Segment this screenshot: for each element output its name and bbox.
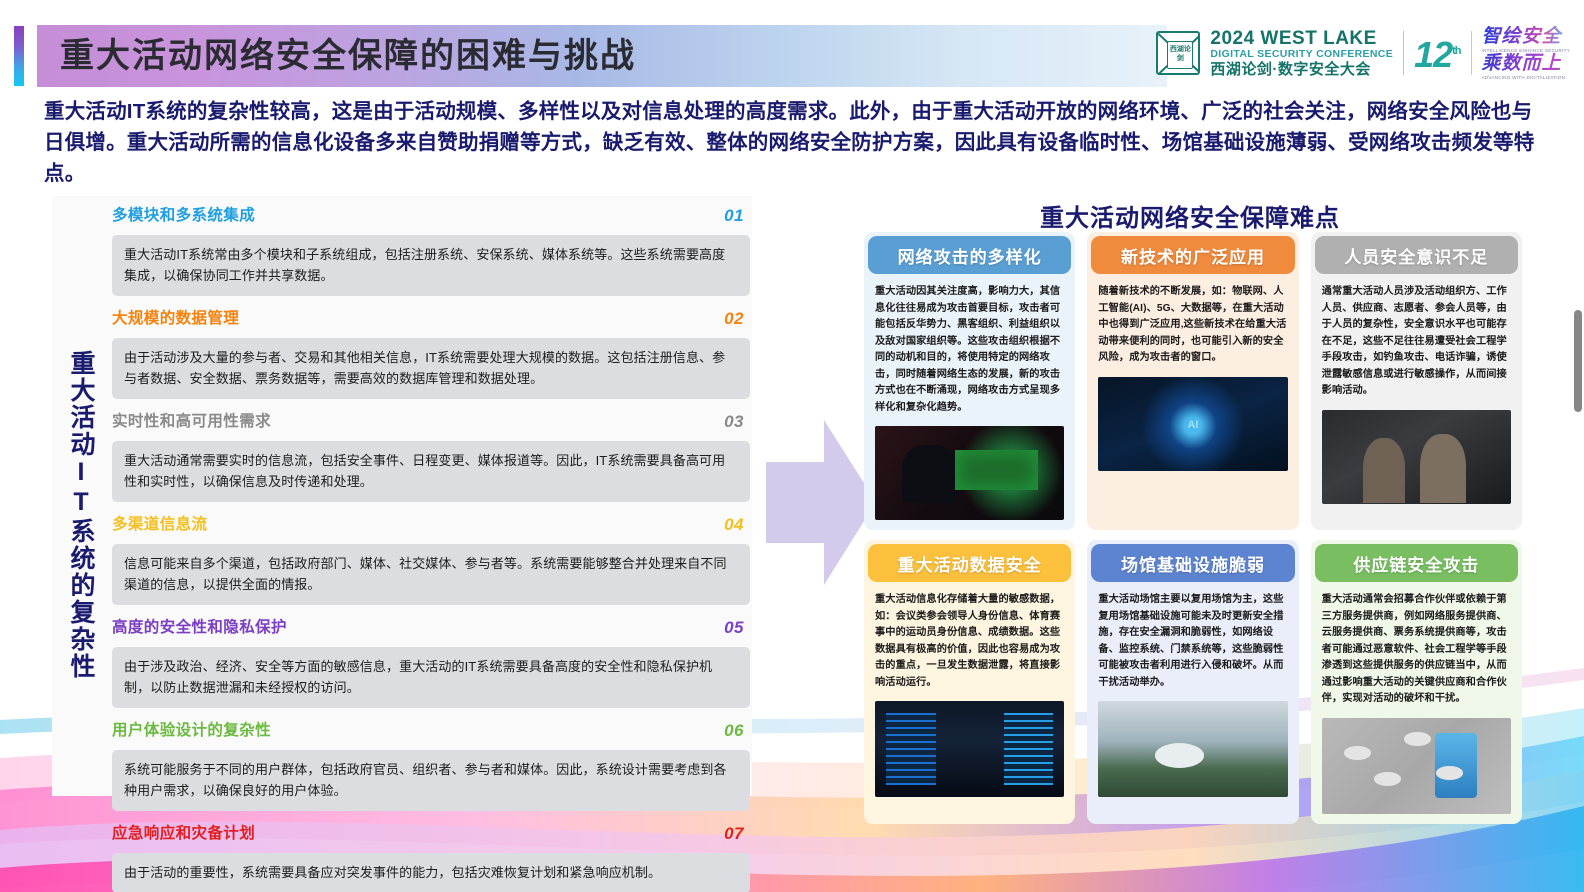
card-body-text: 通常重大活动人员涉及活动组织方、工作人员、供应商、志愿者、参会人员等，由于人员的… — [1311, 274, 1522, 406]
difficulty-card[interactable]: 场馆基础设施脆弱重大活动场馆主要以复用场馆为主，这些复用场馆基础设施可能未及时更… — [1087, 540, 1298, 824]
card-image-hacker-photo — [875, 426, 1064, 520]
slide-root: 重大活动网络安全保障的困难与挑战 西湖论剑 2024 WEST LAKE DIG… — [0, 0, 1584, 892]
card-body-text: 重大活动场馆主要以复用场馆为主，这些复用场馆基础设施可能未及时更新安全措施，存在… — [1087, 582, 1298, 697]
list-item-number: 07 — [724, 822, 744, 846]
list-item-header: 用户体验设计的复杂性06 — [112, 719, 750, 745]
card-title: 人员安全意识不足 — [1315, 236, 1518, 274]
page-scrollbar-thumb[interactable] — [1574, 310, 1582, 412]
card-image-datacenter-photo — [875, 701, 1064, 797]
edition-badge: 12th — [1414, 31, 1460, 75]
list-item-body: 信息可能来自多个渠道，包括政府部门、媒体、社交媒体、参与者等。系统需要能够整合并… — [112, 544, 750, 605]
list-item-number: 03 — [724, 410, 744, 434]
right-section-title: 重大活动网络安全保障难点 — [860, 198, 1520, 233]
difficulty-card[interactable]: 人员安全意识不足通常重大活动人员涉及活动组织方、工作人员、供应商、志愿者、参会人… — [1311, 232, 1522, 530]
conference-logo: 西湖论剑 2024 WEST LAKE DIGITAL SECURITY CON… — [1156, 22, 1570, 84]
list-item-title: 多渠道信息流 — [112, 516, 207, 533]
list-item-body: 重大活动通常需要实时的信息流，包括安全事件、日程变更、媒体报道等。因此，IT系统… — [112, 441, 750, 502]
card-image-staff-photo — [1322, 410, 1511, 504]
logo-text-block: 2024 WEST LAKE DIGITAL SECURITY CONFEREN… — [1210, 29, 1393, 78]
complexity-list: 多模块和多系统集成01重大活动IT系统常由多个模块和子系统组成，包括注册系统、安… — [112, 204, 750, 892]
list-item: 高度的安全性和隐私保护05由于涉及政治、经济、安全等方面的敏感信息，重大活动的I… — [112, 616, 750, 708]
card-body-text: 随着新技术的不断发展，如：物联网、人工智能(AI)、5G、大数据等，在重大活动中… — [1087, 274, 1298, 373]
list-item-title: 实时性和高可用性需求 — [112, 413, 271, 430]
list-item: 用户体验设计的复杂性06系统可能服务于不同的用户群体，包括政府官员、组织者、参与… — [112, 719, 750, 811]
edition-suffix: th — [1452, 45, 1460, 57]
intro-paragraph: 重大活动IT系统的复杂性较高，这是由于活动规模、多样性以及对信息处理的高度需求。… — [44, 96, 1544, 189]
list-item-title: 多模块和多系统集成 — [112, 207, 255, 224]
slogan-block: 智绘安全 INTELLIGENCE ENHANCE SECURITY 乘数而上 … — [1482, 26, 1570, 81]
edition-number: 12 — [1414, 34, 1452, 75]
vertical-section-label: 重大活动IT系统的复杂性 — [60, 325, 96, 705]
list-item-body: 系统可能服务于不同的用户群体，包括政府官员、组织者、参与者和媒体。因此，系统设计… — [112, 750, 750, 811]
page-scrollbar-track[interactable] — [1571, 0, 1584, 892]
list-item-number: 01 — [724, 204, 744, 228]
list-item-body: 由于活动涉及大量的参与者、交易和其他相关信息，IT系统需要处理大规模的数据。这包… — [112, 338, 750, 399]
slogan-line-1: 智绘安全 — [1482, 26, 1570, 48]
list-item-body: 由于涉及政治、经济、安全等方面的敏感信息，重大活动的IT系统需要具备高度的安全性… — [112, 647, 750, 708]
difficulty-card[interactable]: 重大活动数据安全重大活动信息化存储着大量的敏感数据，如：会议类参会领导人身份信息… — [864, 540, 1075, 824]
difficulty-card[interactable]: 新技术的广泛应用随着新技术的不断发展，如：物联网、人工智能(AI)、5G、大数据… — [1087, 232, 1298, 530]
list-item-number: 06 — [724, 719, 744, 743]
list-item-number: 02 — [724, 307, 744, 331]
list-item-header: 应急响应和灾备计划07 — [112, 822, 750, 848]
card-body-text: 重大活动因其关注度高，影响力大，其信息化往往易成为攻击首要目标，攻击者可能包括反… — [864, 274, 1075, 422]
card-image-ai-robot-photo — [1098, 377, 1287, 471]
card-image-supply-chain-graphic — [1322, 718, 1511, 814]
card-title: 网络攻击的多样化 — [868, 236, 1071, 274]
right-arrow-icon — [766, 420, 876, 585]
list-item-number: 04 — [724, 513, 744, 537]
list-item-header: 高度的安全性和隐私保护05 — [112, 616, 750, 642]
card-title: 场馆基础设施脆弱 — [1091, 544, 1294, 582]
card-image-venue-photo — [1098, 701, 1287, 797]
list-item: 实时性和高可用性需求03重大活动通常需要实时的信息流，包括安全事件、日程变更、媒… — [112, 410, 750, 502]
logo-line-1: 2024 WEST LAKE — [1210, 29, 1393, 48]
card-title: 新技术的广泛应用 — [1091, 236, 1294, 274]
slogan-line-2: 乘数而上 — [1482, 53, 1570, 75]
logo-line-3: 西湖论剑·数字安全大会 — [1210, 61, 1393, 78]
title-accent-bar — [14, 26, 24, 86]
difficulty-cards-grid: 网络攻击的多样化重大活动因其关注度高，影响力大，其信息化往往易成为攻击首要目标，… — [864, 232, 1522, 824]
card-title: 重大活动数据安全 — [868, 544, 1071, 582]
difficulty-card[interactable]: 网络攻击的多样化重大活动因其关注度高，影响力大，其信息化往往易成为攻击首要目标，… — [864, 232, 1075, 530]
list-item-header: 多渠道信息流04 — [112, 513, 750, 539]
westlake-seal-icon: 西湖论剑 — [1156, 31, 1200, 75]
list-item-title: 用户体验设计的复杂性 — [112, 722, 271, 739]
logo-divider — [1403, 31, 1404, 75]
card-title: 供应链安全攻击 — [1315, 544, 1518, 582]
list-item-header: 大规模的数据管理02 — [112, 307, 750, 333]
card-body-text: 重大活动通常会招募合作伙伴或依赖于第三方服务提供商，例如网络服务提供商、云服务提… — [1311, 582, 1522, 714]
list-item: 应急响应和灾备计划07由于活动的重要性，系统需要具备应对突发事件的能力，包括灾难… — [112, 822, 750, 892]
list-item-title: 大规模的数据管理 — [112, 310, 239, 327]
list-item-title: 高度的安全性和隐私保护 — [112, 619, 287, 636]
list-item-body: 重大活动IT系统常由多个模块和子系统组成，包括注册系统、安保系统、媒体系统等。这… — [112, 235, 750, 296]
list-item-header: 多模块和多系统集成01 — [112, 204, 750, 230]
card-body-text: 重大活动信息化存储着大量的敏感数据，如：会议类参会领导人身份信息、体育赛事中的运… — [864, 582, 1075, 697]
slogan-en-2: ADVANCING WITH DIGITALIZATION — [1482, 75, 1570, 81]
list-item-body: 由于活动的重要性，系统需要具备应对突发事件的能力，包括灾难恢复计划和紧急响应机制… — [112, 853, 750, 892]
list-item-header: 实时性和高可用性需求03 — [112, 410, 750, 436]
seal-text: 西湖论剑 — [1167, 41, 1193, 69]
list-item: 多模块和多系统集成01重大活动IT系统常由多个模块和子系统组成，包括注册系统、安… — [112, 204, 750, 296]
list-item-number: 05 — [724, 616, 744, 640]
page-title: 重大活动网络安全保障的困难与挑战 — [60, 28, 636, 84]
difficulty-card[interactable]: 供应链安全攻击重大活动通常会招募合作伙伴或依赖于第三方服务提供商，例如网络服务提… — [1311, 540, 1522, 824]
logo-line-2: DIGITAL SECURITY CONFERENCE — [1210, 48, 1393, 61]
logo-divider-2 — [1471, 31, 1472, 75]
list-item: 多渠道信息流04信息可能来自多个渠道，包括政府部门、媒体、社交媒体、参与者等。系… — [112, 513, 750, 605]
list-item: 大规模的数据管理02由于活动涉及大量的参与者、交易和其他相关信息，IT系统需要处… — [112, 307, 750, 399]
list-item-title: 应急响应和灾备计划 — [112, 825, 255, 842]
